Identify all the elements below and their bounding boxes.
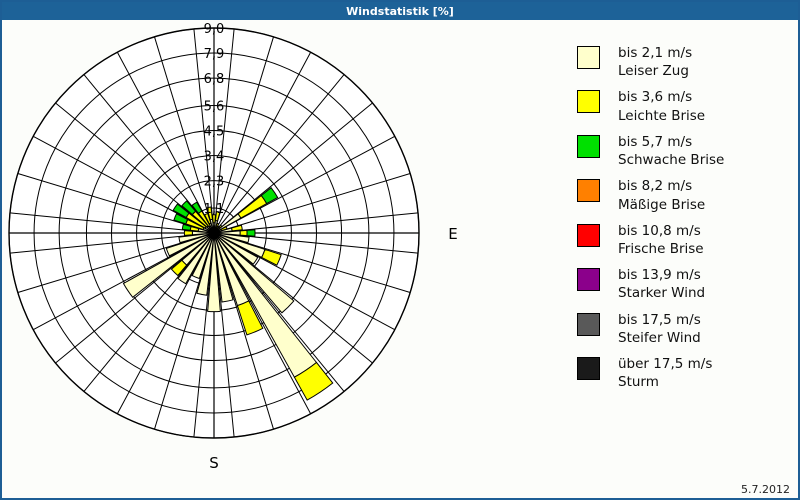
legend-name: Frische Brise: [618, 240, 704, 258]
legend-item: bis 5,7 m/sSchwache Brise: [577, 133, 792, 169]
legend-swatch: [577, 357, 600, 380]
windstatistik-window: Windstatistik [%] 1,12,33,44,55,66,87,99…: [0, 0, 800, 500]
radial-tick-label: 5,6: [204, 99, 225, 114]
legend-swatch: [577, 135, 600, 158]
radial-tick-label: 9,0: [204, 22, 225, 37]
legend-item: bis 8,2 m/sMäßige Brise: [577, 177, 792, 213]
legend-item: bis 3,6 m/sLeichte Brise: [577, 88, 792, 124]
legend-speed: über 17,5 m/s: [618, 355, 712, 373]
legend-speed: bis 13,9 m/s: [618, 266, 705, 284]
legend-item: bis 2,1 m/sLeiser Zug: [577, 44, 792, 80]
legend-item: bis 10,8 m/sFrische Brise: [577, 222, 792, 258]
compass-label-east: E: [448, 225, 457, 243]
legend-swatch: [577, 90, 600, 113]
rose-segment: [184, 231, 192, 236]
rose-segment: [240, 230, 247, 235]
windrose-svg: 1,12,33,44,55,66,87,99,0NSWE: [2, 20, 562, 482]
legend-label: bis 3,6 m/sLeichte Brise: [618, 88, 705, 124]
legend-label: über 17,5 m/sSturm: [618, 355, 712, 391]
legend-label: bis 17,5 m/sSteifer Wind: [618, 311, 701, 347]
date-stamp: 5.7.2012: [741, 483, 790, 496]
radial-tick-label: 2,3: [204, 175, 225, 190]
radial-tick-label: 1,1: [204, 202, 225, 217]
legend-name: Mäßige Brise: [618, 196, 705, 214]
legend-name: Sturm: [618, 373, 712, 391]
legend-speed: bis 10,8 m/s: [618, 222, 704, 240]
radial-tick-label: 6,8: [204, 72, 225, 87]
legend-swatch: [577, 313, 600, 336]
legend-label: bis 10,8 m/sFrische Brise: [618, 222, 704, 258]
legend-swatch: [577, 179, 600, 202]
legend-swatch: [577, 268, 600, 291]
legend-label: bis 2,1 m/sLeiser Zug: [618, 44, 692, 80]
legend-label: bis 8,2 m/sMäßige Brise: [618, 177, 705, 213]
radial-tick-label: 7,9: [204, 47, 225, 62]
legend-item: über 17,5 m/sSturm: [577, 355, 792, 391]
legend-speed: bis 5,7 m/s: [618, 133, 724, 151]
window-title: Windstatistik [%]: [346, 5, 454, 18]
legend-label: bis 13,9 m/sStarker Wind: [618, 266, 705, 302]
rose-segment: [247, 230, 255, 237]
windrose-chart: 1,12,33,44,55,66,87,99,0NSWE: [2, 20, 562, 482]
radial-tick-label: 3,4: [204, 150, 225, 165]
legend-speed: bis 2,1 m/s: [618, 44, 692, 62]
legend-name: Starker Wind: [618, 284, 705, 302]
legend-speed: bis 8,2 m/s: [618, 177, 705, 195]
compass-label-south: S: [209, 454, 219, 472]
legend-speed: bis 3,6 m/s: [618, 88, 705, 106]
legend-name: Leiser Zug: [618, 62, 692, 80]
legend-swatch: [577, 46, 600, 69]
legend: bis 2,1 m/sLeiser Zugbis 3,6 m/sLeichte …: [577, 44, 792, 400]
legend-label: bis 5,7 m/sSchwache Brise: [618, 133, 724, 169]
legend-name: Leichte Brise: [618, 107, 705, 125]
legend-name: Steifer Wind: [618, 329, 701, 347]
legend-swatch: [577, 224, 600, 247]
legend-item: bis 13,9 m/sStarker Wind: [577, 266, 792, 302]
legend-speed: bis 17,5 m/s: [618, 311, 701, 329]
window-titlebar: Windstatistik [%]: [2, 2, 798, 20]
legend-name: Schwache Brise: [618, 151, 724, 169]
legend-item: bis 17,5 m/sSteifer Wind: [577, 311, 792, 347]
radial-tick-label: 4,5: [204, 125, 225, 140]
